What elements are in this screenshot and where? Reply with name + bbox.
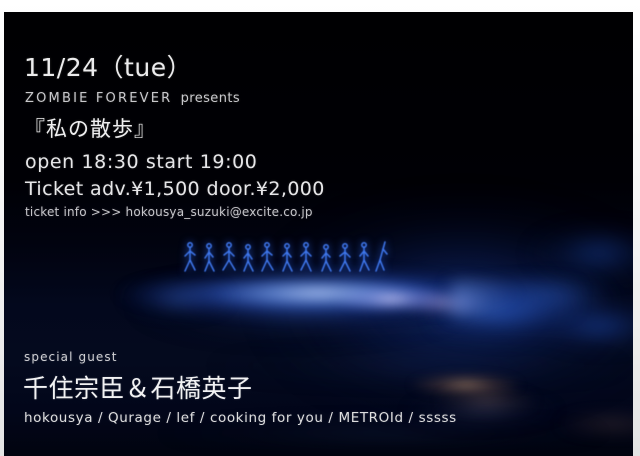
- figure-11: [376, 242, 387, 271]
- image-viewer: 11/24（tue） ZOMBIE FOREVER presents 『私の散歩…: [0, 0, 640, 456]
- walking-figures-group: [180, 240, 396, 288]
- figure-5: [262, 243, 273, 271]
- event-title: 『私の散歩』: [24, 113, 156, 143]
- figure-2: [205, 244, 214, 271]
- figure-9: [340, 244, 350, 271]
- figure-7: [301, 243, 311, 271]
- ticket-prices: Ticket adv.¥1,500 door.¥2,000: [25, 178, 325, 200]
- presents-word: presents: [181, 91, 240, 106]
- figure-10: [360, 243, 369, 271]
- figure-6: [283, 244, 292, 271]
- event-date: 11/24（tue）: [24, 48, 192, 84]
- figure-1: [185, 243, 195, 271]
- ticket-contact-info: ticket info >>> hokousya_suzuki@excite.c…: [25, 205, 313, 219]
- special-guest-label: special guest: [24, 350, 118, 364]
- organizer-name: ZOMBIE FOREVER: [25, 91, 172, 106]
- special-guest-name: 千住宗臣＆石橋英子: [23, 369, 253, 405]
- figure-3: [223, 243, 235, 270]
- organizer-presents-line: ZOMBIE FOREVER presents: [25, 91, 240, 106]
- figure-4: [244, 245, 253, 271]
- door-start-times: open 18:30 start 19:00: [25, 151, 258, 173]
- cloud-right-tail: [452, 282, 582, 316]
- figure-8: [322, 245, 331, 271]
- event-flyer-artwork: 11/24（tue） ZOMBIE FOREVER presents 『私の散歩…: [4, 12, 633, 456]
- artist-lineup: hokousya / Qurage / lef / cooking for yo…: [24, 410, 457, 426]
